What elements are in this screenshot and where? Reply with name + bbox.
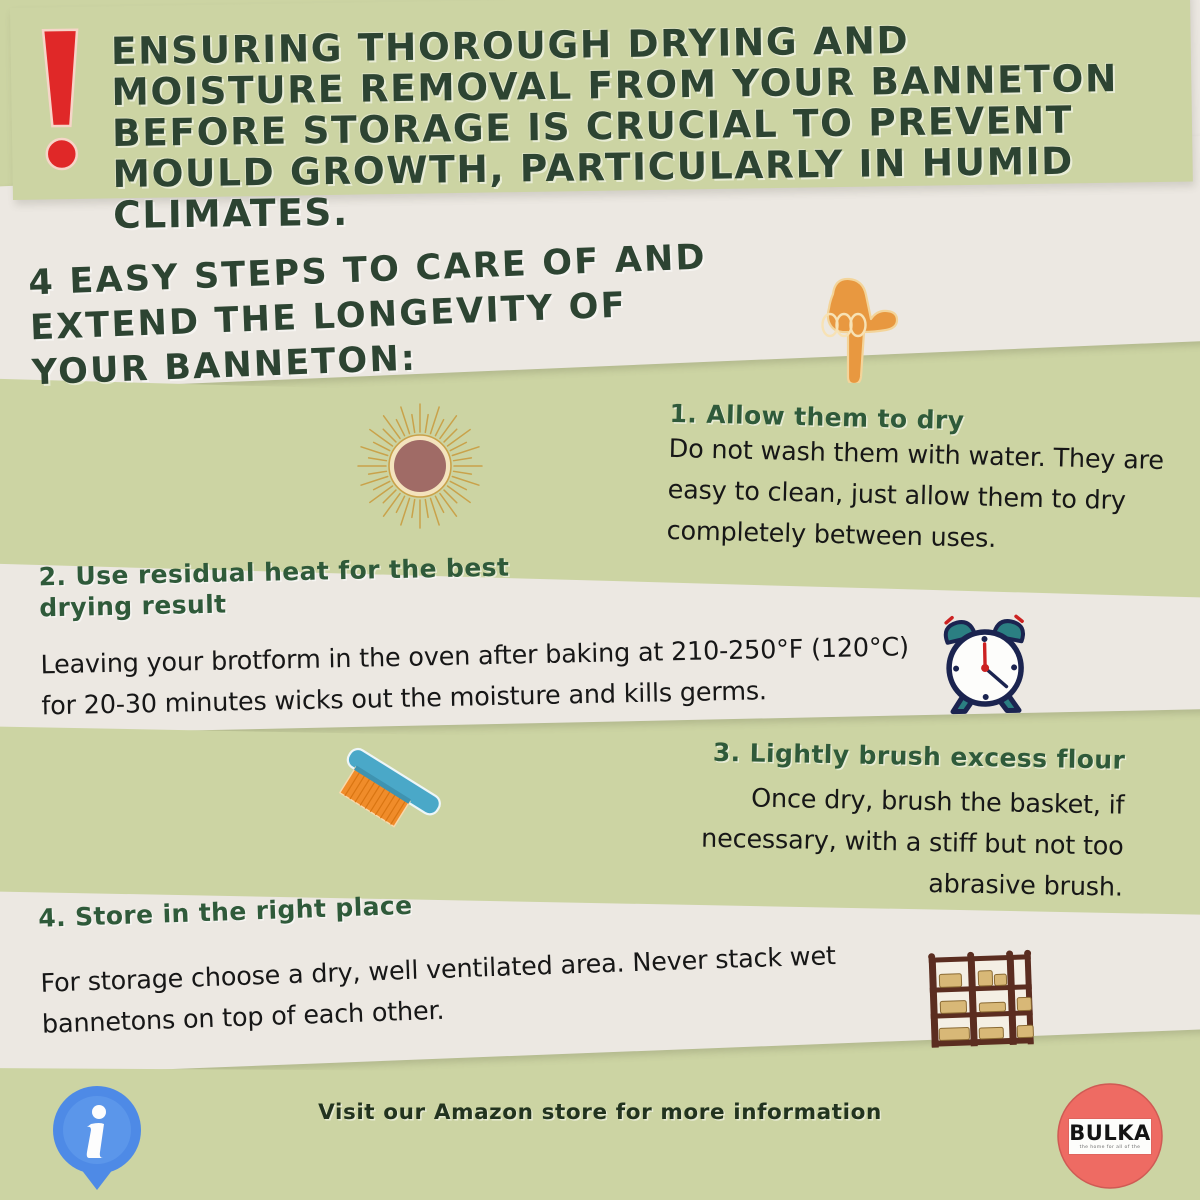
pointing-hand-icon [805, 258, 905, 383]
alert-banner: ENSURING THOROUGH DRYING AND MOISTURE RE… [111, 17, 1124, 236]
page-title: 4 EASY STEPS TO CARE OF AND EXTEND THE L… [28, 235, 733, 397]
infographic-canvas: ENSURING THOROUGH DRYING AND MOISTURE RE… [0, 0, 1200, 1200]
brand-box: BULKA the home for all of the [1069, 1119, 1151, 1154]
step-2-block: 2. Use residual heat for the best drying… [38, 543, 941, 728]
alert-headline-text: ENSURING THOROUGH DRYING AND MOISTURE RE… [111, 17, 1124, 236]
brand-name-text: BULKA [1069, 1123, 1151, 1144]
intro-title-block: 4 EASY STEPS TO CARE OF AND EXTEND THE L… [28, 235, 733, 397]
brush-icon [318, 736, 458, 846]
step-1-block: 1. Allow them to dry Do not wash them wi… [666, 398, 1170, 564]
exclamation-mark-icon [39, 26, 83, 172]
step-3-heading: 3. Lightly brush excess flour [635, 735, 1126, 775]
step-4-block: 4. Store in the right place For storage … [38, 873, 892, 1046]
info-pin-icon[interactable] [44, 1082, 150, 1192]
shelf-icon [920, 940, 1042, 1050]
brand-logo: BULKA the home for all of the [1056, 1082, 1164, 1190]
footer-cta-text[interactable]: Visit our Amazon store for more informat… [300, 1100, 900, 1125]
background-band-footer [0, 1068, 1200, 1200]
alarm-clock-icon [929, 607, 1041, 719]
brand-tagline-text: the home for all of the [1069, 1144, 1151, 1151]
step-2-heading: 2. Use residual heat for the best drying… [38, 550, 599, 624]
sun-icon [356, 402, 484, 530]
